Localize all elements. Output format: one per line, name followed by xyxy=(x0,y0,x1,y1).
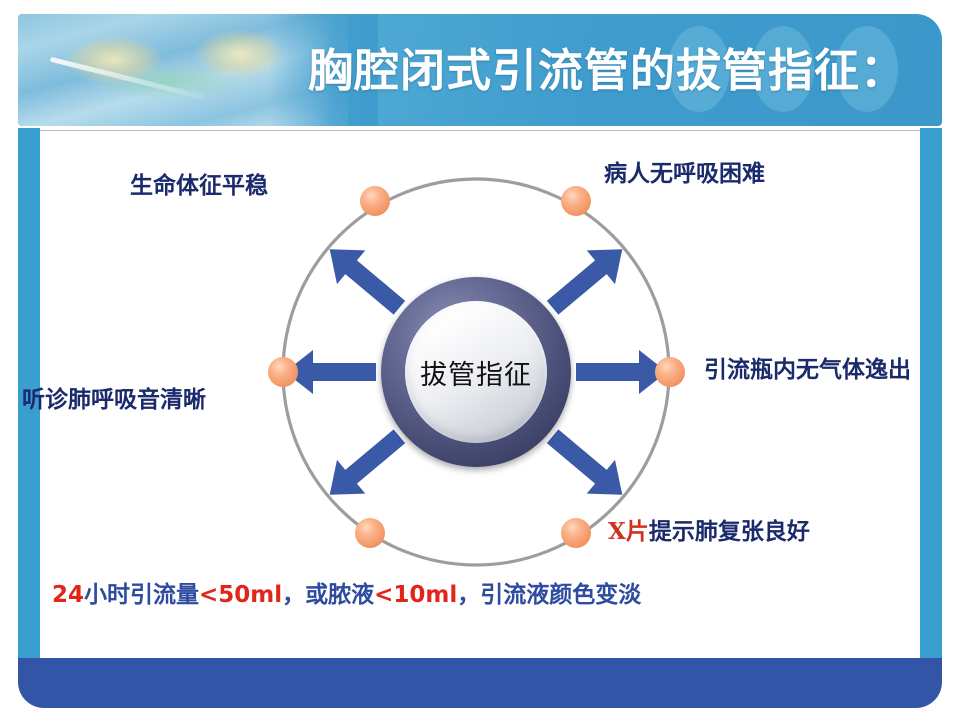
footnote-seg-or-pus: ，或脓液 xyxy=(282,581,374,608)
spoke-label-no-gas-leak: 引流瓶内无气体逸出 xyxy=(704,356,911,384)
slide-canvas: 胸腔闭式引流管的拔管指征： xyxy=(0,0,960,720)
footnote-seg-hours-number: 24 xyxy=(52,582,84,608)
spoke-label-xray-rest: 提示肺复张良好 xyxy=(649,518,810,545)
footnote-seg-pus-limit: <10ml xyxy=(374,582,457,608)
spoke-label-nodyspnea: 病人无呼吸困难 xyxy=(604,160,765,188)
frame-bottom-band xyxy=(18,658,942,708)
footnote-seg-volume-limit: <50ml xyxy=(199,582,282,608)
spoke-label-xray-highlight: X片 xyxy=(608,518,649,545)
spoke-label-vitals: 生命体征平稳 xyxy=(130,172,268,200)
spoke-label-auscultation: 听诊肺呼吸音清晰 xyxy=(22,386,206,414)
diagram-hub: 拔管指征 xyxy=(381,277,571,467)
hub-inner-face: 拔管指征 xyxy=(405,301,547,443)
page-title: 胸腔闭式引流管的拔管指征： xyxy=(308,42,942,100)
hub-label: 拔管指征 xyxy=(420,353,532,392)
footnote-text: 24小时引流量<50ml，或脓液<10ml，引流液颜色变淡 xyxy=(52,580,641,610)
spoke-label-xray: X片提示肺复张良好 xyxy=(608,518,810,546)
frame-right-accent-bar xyxy=(920,128,942,668)
footnote-seg-color-fades: ，引流液颜色变淡 xyxy=(457,581,641,608)
footnote-seg-hours-label: 小时引流量 xyxy=(84,581,199,608)
slide-header: 胸腔闭式引流管的拔管指征： xyxy=(18,14,942,126)
